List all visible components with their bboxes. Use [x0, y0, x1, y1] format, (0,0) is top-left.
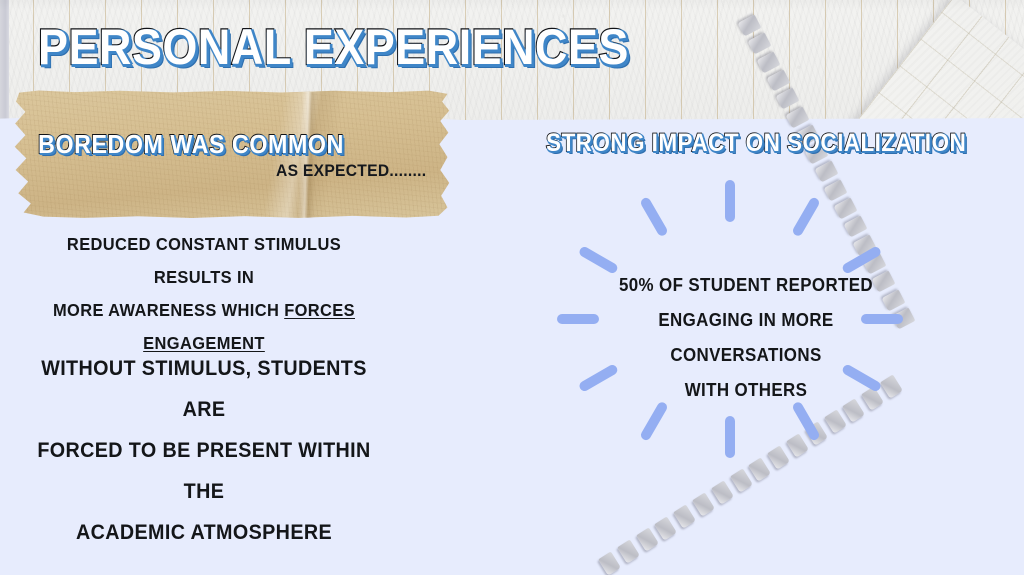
left-paragraph-two-line-3: ACADEMIC ATMOSPHERE — [35, 512, 373, 553]
right-section-heading: STRONG IMPACT ON SOCIALIZATION — [546, 129, 966, 158]
left-section-subtext: AS EXPECTED........ — [276, 161, 426, 181]
left-edge-strip — [0, 0, 9, 122]
right-paragraph-line-3: WITH OTHERS — [596, 373, 897, 408]
left-paragraph-two-line-2: FORCED TO BE PRESENT WITHIN THE — [35, 430, 373, 512]
page-title: PERSONAL EXPERIENCES — [38, 20, 629, 74]
left-paragraph-two-line-1: WITHOUT STIMULUS, STUDENTS ARE — [35, 348, 373, 430]
left-paragraph-two: WITHOUT STIMULUS, STUDENTS ARE FORCED TO… — [35, 348, 373, 553]
left-paragraph-one-line-2-underlined: FORCES — [284, 300, 355, 320]
left-paragraph-one-line-2: MORE AWARENESS WHICH FORCES — [35, 294, 373, 327]
slide-canvas: PERSONAL EXPERIENCES BOREDOM WAS COMMON … — [0, 0, 1024, 575]
right-paragraph-line-2: ENGAGING IN MORE CONVERSATIONS — [596, 303, 897, 373]
right-paragraph-line-1: 50% OF STUDENT REPORTED — [596, 268, 897, 303]
left-section-heading: BOREDOM WAS COMMON — [38, 129, 344, 159]
left-paragraph-one-line-1: REDUCED CONSTANT STIMULUS RESULTS IN — [35, 228, 373, 294]
right-paragraph: 50% OF STUDENT REPORTED ENGAGING IN MORE… — [596, 268, 897, 408]
left-paragraph-one-line-2-plain: MORE AWARENESS WHICH — [53, 300, 284, 320]
left-paragraph-one: REDUCED CONSTANT STIMULUS RESULTS IN MOR… — [35, 228, 373, 360]
